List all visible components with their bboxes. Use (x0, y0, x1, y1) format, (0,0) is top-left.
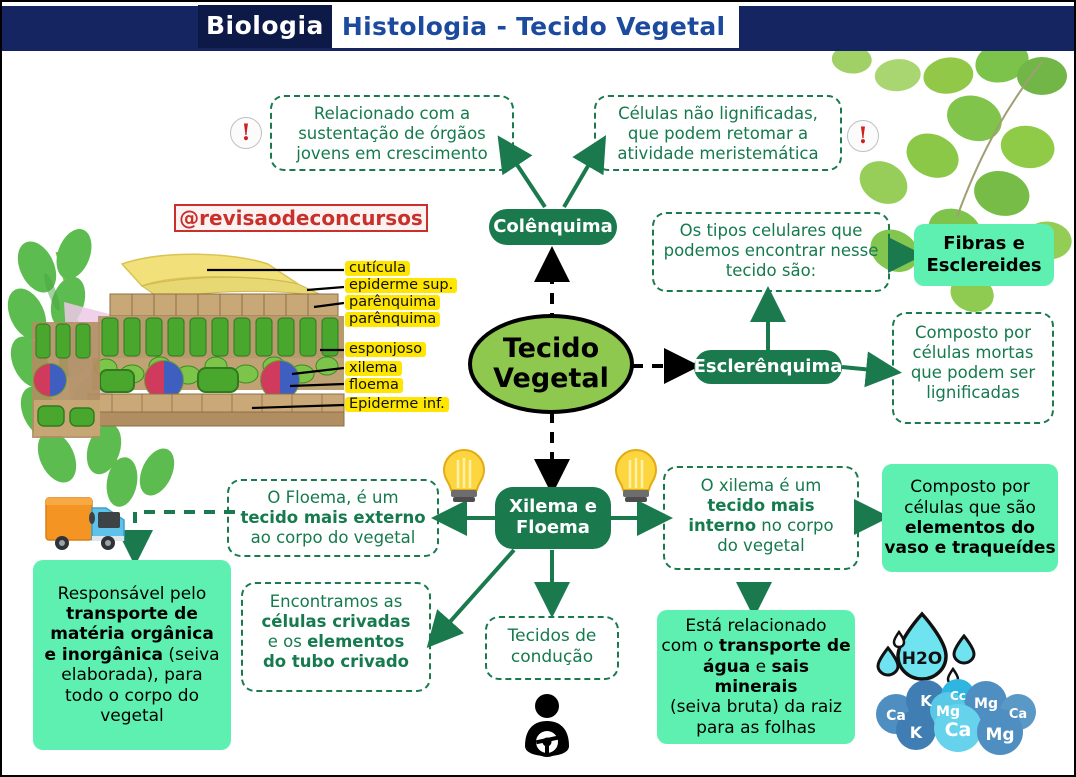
box-agua-l4: (seiva bruta) da raiz (670, 697, 842, 717)
note-xilema-interno-l3-rest: no corpo (756, 516, 834, 535)
node-colenquima[interactable]: Colênquima (489, 209, 617, 245)
box-fibras-esclereides: Fibras e Esclereides (914, 224, 1054, 286)
box-agua-l3: água e sais minerais (660, 657, 852, 698)
box-floema-responsavel: Responsável pelo transporte de matéria o… (33, 560, 231, 750)
box-resp-l2: transporte de (66, 604, 198, 624)
note-celulas-mortas: Composto por células mortas que podem se… (892, 312, 1054, 424)
leaf-label-epiderme-inf: Epiderme inf. (345, 397, 449, 412)
note-xilema-interno-l3: interno no corpo (669, 516, 853, 536)
leaf-label-epiderme-sup: epiderme sup. (345, 278, 457, 293)
note-tipos-celulares: Os tipos celulares que podemos encontrar… (652, 212, 890, 292)
box-elementos-vaso-traqueides: Composto por células que são elementos d… (882, 464, 1058, 572)
note-celulas-crivadas: Encontramos as células crivadas e os ele… (241, 582, 431, 692)
svg-text:Cc: Cc (950, 689, 966, 703)
note-xilema-interno-l4: do vegetal (669, 536, 853, 556)
box-resp-l6: todo o corpo do (65, 686, 199, 706)
svg-text:Ca: Ca (945, 719, 972, 741)
note-colenquima-sustentacao: Relacionado com a sustentação de órgãos … (270, 95, 514, 171)
leaf-label-esponjoso: esponjoso (345, 342, 426, 357)
box-resp-l5: elaborada), para (61, 665, 202, 685)
svg-text:H2O: H2O (902, 649, 943, 669)
box-agua-l3-bold: água (703, 657, 750, 677)
note-tecidos-conducao: Tecidos de condução (485, 616, 619, 680)
note-crivadas-l4: do tubo crivado (247, 652, 425, 672)
node-tecido-vegetal-label: Tecido Vegetal (493, 334, 609, 394)
mindmap-canvas: Biologia Histologia - Tecido Vegetal (2, 2, 1074, 775)
warning-icon-left: ! (230, 117, 262, 149)
box-resp-l7: vegetal (100, 706, 164, 726)
note-crivadas-l1: Encontramos as (247, 592, 425, 612)
note-xilema-interno-l1: O xilema é um (669, 476, 853, 496)
box-agua-l1: Está relacionado (685, 616, 826, 636)
box-agua-l5: para as folhas (696, 718, 816, 738)
box-resp-l4-bold: e inorgânica (44, 645, 163, 665)
header: Biologia Histologia - Tecido Vegetal (2, 6, 1074, 48)
header-rule (2, 48, 1074, 51)
leaf-label-parenquima-2: parênquima (345, 312, 440, 327)
box-resp-l3: matéria orgânica (50, 624, 214, 644)
svg-text:Mg: Mg (974, 696, 998, 712)
box-vaso-l2: células que são (904, 498, 1036, 518)
leaf-label-floema: floema (345, 378, 403, 393)
box-agua-l2: com o transporte de (661, 636, 850, 656)
svg-text:K: K (920, 692, 933, 710)
note-xilema-interno-l3-bold: interno (688, 516, 756, 535)
node-tecido-vegetal[interactable]: Tecido Vegetal (468, 314, 634, 414)
box-vaso-l1: Composto por (910, 477, 1030, 497)
note-colenquima-celulas: Células não lignificadas, que podem reto… (594, 95, 842, 171)
note-xilema-interno-l2: tecido mais (669, 496, 853, 516)
note-crivadas-l3-bold: elementos (307, 632, 404, 651)
svg-text:Ca: Ca (1009, 707, 1027, 722)
box-resp-l4-rest: (seiva (163, 645, 220, 665)
box-vaso-l4: vaso e traqueídes (884, 538, 1055, 558)
svg-text:Mg: Mg (985, 725, 1014, 745)
note-crivadas-l3-rest: e os (268, 632, 307, 651)
note-floema-externo-l2: tecido mais externo (233, 508, 433, 528)
watermark-handle: @revisaodeconcursos (174, 204, 428, 232)
warning-icon-right: ! (847, 120, 879, 152)
page-title: Histologia - Tecido Vegetal (332, 5, 740, 49)
header-subject: Biologia (198, 5, 332, 49)
note-xilema-interno: O xilema é um tecido mais interno no cor… (663, 466, 859, 570)
box-agua-l2-bold: transporte de (719, 636, 851, 656)
box-agua-l2-rest: com o (661, 636, 719, 656)
svg-text:Mg: Mg (936, 704, 960, 720)
box-resp-l4: e inorgânica (seiva (44, 645, 219, 665)
node-xilema-floema[interactable]: Xilema e Floema (495, 487, 611, 549)
svg-text:Ca: Ca (886, 708, 906, 724)
box-vaso-l3: elementos do (905, 518, 1035, 538)
note-floema-externo: O Floema, é um tecido mais externo ao co… (227, 479, 439, 557)
note-crivadas-l3: e os elementos (247, 632, 425, 652)
box-xilema-agua-sais: Está relacionado com o transporte de águ… (657, 610, 855, 744)
box-agua-l3-mid: e (750, 657, 771, 677)
svg-text:K: K (910, 723, 923, 742)
note-crivadas-l2: células crivadas (247, 612, 425, 632)
leaf-label-xilema: xilema (345, 361, 402, 376)
leaf-label-cuticula: cutícula (345, 261, 410, 276)
note-floema-externo-l1: O Floema, é um (233, 488, 433, 508)
node-esclerenquima[interactable]: Esclerênquima (694, 350, 842, 384)
box-resp-l1: Responsável pelo (58, 584, 207, 604)
node-xilema-floema-label: Xilema e Floema (509, 497, 597, 538)
leaf-label-parenquima-1: parênquima (345, 295, 440, 310)
note-floema-externo-l3: ao corpo do vegetal (233, 528, 433, 548)
